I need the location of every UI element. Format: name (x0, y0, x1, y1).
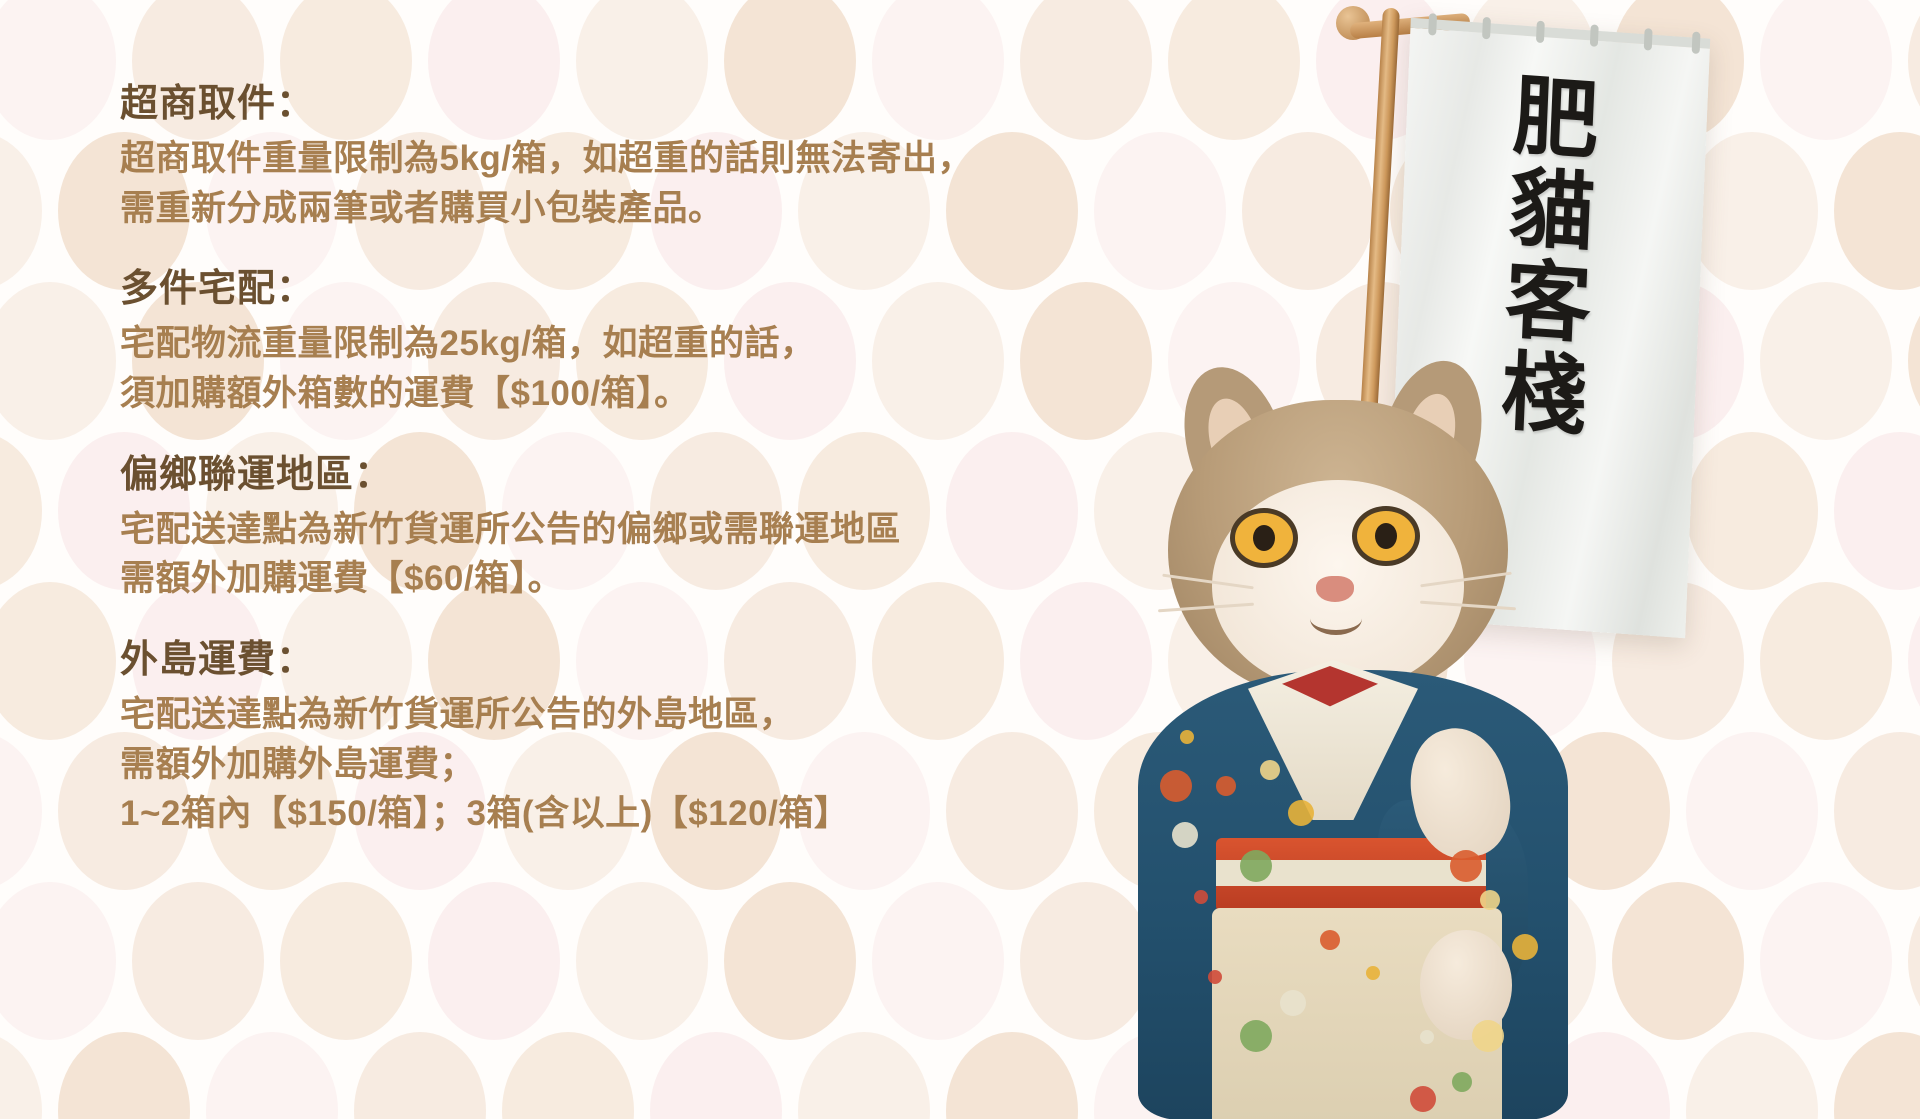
section-remote-area: 偏鄉聯運地區： 宅配送達點為新竹貨運所公告的偏鄉或需聯運地區 需額外加購運費【$… (120, 449, 1200, 604)
cat-pupil (1253, 525, 1275, 551)
background-dot (576, 882, 708, 1040)
kimono-floral-motif (1260, 760, 1280, 780)
kimono-floral-motif (1172, 822, 1198, 848)
cat-mascot-illustration: 肥 貓 客 棧 (1100, 0, 1920, 1119)
background-dot (0, 732, 42, 890)
kimono-floral-motif (1240, 850, 1272, 882)
background-dot (354, 1032, 486, 1119)
banner-ring-icon (1536, 21, 1545, 44)
cat-eye-left (1230, 508, 1298, 568)
background-dot (0, 582, 116, 740)
kimono-floral-motif (1208, 970, 1222, 984)
shipping-policy-text: 超商取件： 超商取件重量限制為5kg/箱，如超重的話則無法寄出， 需重新分成兩筆… (120, 78, 1200, 839)
kimono-floral-motif (1216, 776, 1236, 796)
cat-eye-right (1352, 506, 1420, 566)
background-dot (58, 1032, 190, 1119)
section-line: 需重新分成兩筆或者購買小包裝產品。 (120, 184, 1200, 234)
kimono-floral-motif (1240, 1020, 1272, 1052)
section-heading: 超商取件： (120, 78, 1200, 132)
section-line: 宅配物流重量限制為25kg/箱，如超重的話， (120, 319, 1200, 369)
kimono-floral-motif (1280, 990, 1306, 1016)
promo-banner-image: 超商取件： 超商取件重量限制為5kg/箱，如超重的話則無法寄出， 需重新分成兩筆… (0, 0, 1920, 1119)
section-line: 超商取件重量限制為5kg/箱，如超重的話則無法寄出， (120, 134, 1200, 184)
kimono-floral-motif (1480, 890, 1500, 910)
background-dot (946, 1032, 1078, 1119)
kimono-floral-motif (1288, 800, 1314, 826)
background-dot (502, 1032, 634, 1119)
kimono-floral-motif (1512, 934, 1538, 960)
banner-ring-icon (1428, 13, 1437, 36)
banner-char: 肥 (1511, 73, 1602, 165)
cat-mouth (1310, 602, 1362, 635)
kimono-floral-motif (1160, 770, 1192, 802)
background-dot (872, 882, 1004, 1040)
cat-nose (1316, 576, 1354, 602)
section-outlying-island: 外島運費： 宅配送達點為新竹貨運所公告的外島地區， 需額外加購外島運費； 1~2… (120, 634, 1200, 839)
background-dot (0, 432, 42, 590)
background-dot (0, 882, 116, 1040)
section-heading: 偏鄉聯運地區： (120, 449, 1200, 503)
background-dot (428, 882, 560, 1040)
kimono-floral-motif (1452, 1072, 1472, 1092)
kimono-floral-motif (1180, 730, 1194, 744)
banner-ring-icon (1482, 17, 1491, 40)
section-line: 宅配送達點為新竹貨運所公告的偏鄉或需聯運地區 (120, 505, 1200, 555)
background-dot (650, 1032, 782, 1119)
kimono-floral-motif (1420, 1030, 1434, 1044)
section-line: 宅配送達點為新竹貨運所公告的外島地區， (120, 690, 1200, 740)
background-dot (0, 1032, 42, 1119)
section-heading: 多件宅配： (120, 263, 1200, 317)
banner-char: 貓 (1507, 165, 1598, 257)
section-convenience-store: 超商取件： 超商取件重量限制為5kg/箱，如超重的話則無法寄出， 需重新分成兩筆… (120, 78, 1200, 233)
background-dot (798, 1032, 930, 1119)
background-dot (0, 132, 42, 290)
background-dot (0, 282, 116, 440)
kimono-floral-motif (1410, 1086, 1436, 1112)
cat-pupil (1375, 523, 1397, 549)
kimono-floral-motif (1320, 930, 1340, 950)
section-heading: 外島運費： (120, 634, 1200, 688)
banner-ring-icon (1692, 31, 1701, 54)
section-line: 需額外加購運費【$60/箱】。 (120, 554, 1200, 604)
section-multi-box-home-delivery: 多件宅配： 宅配物流重量限制為25kg/箱，如超重的話， 須加購額外箱數的運費【… (120, 263, 1200, 418)
background-dot (724, 882, 856, 1040)
cat-character (1120, 330, 1680, 1119)
section-line: 1~2箱內【$150/箱】；3箱(含以上)【$120/箱】 (120, 789, 1200, 839)
banner-ring-icon (1644, 28, 1653, 51)
kimono-floral-motif (1450, 850, 1482, 882)
section-line: 需額外加購外島運費； (120, 740, 1200, 790)
background-dot (132, 882, 264, 1040)
background-dot (206, 1032, 338, 1119)
background-dot (280, 882, 412, 1040)
section-line: 須加購額外箱數的運費【$100/箱】。 (120, 369, 1200, 419)
kimono-floral-motif (1472, 1020, 1504, 1052)
banner-ring-icon (1590, 24, 1599, 47)
background-dot (0, 0, 116, 140)
kimono-floral-motif (1366, 966, 1380, 980)
kimono-floral-motif (1194, 890, 1208, 904)
